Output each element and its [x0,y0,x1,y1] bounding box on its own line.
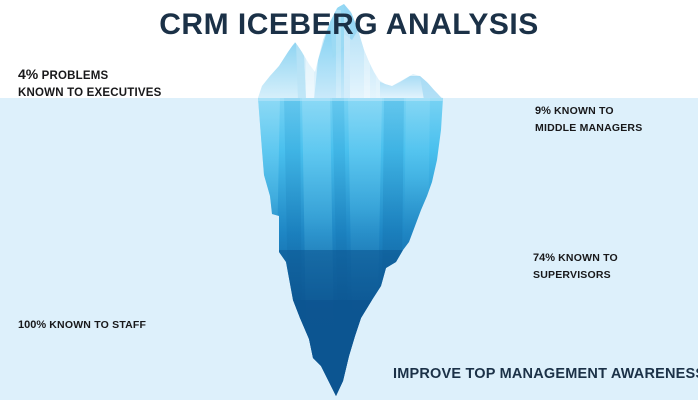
callout-supervisors-percent: 74% [533,252,555,264]
callout-staff: 100% KNOWN TO STAFF [18,313,146,335]
callout-executives-percent: 4% [18,66,38,82]
callout-supervisors: 74% KNOWN TO SUPERVISORS [533,246,618,282]
callout-supervisors-text1: KNOWN TO [555,252,618,264]
iceberg-infographic: CRM ICEBERG ANALYSIS 4% PROBLEMS KNOWN T… [0,0,698,400]
iceberg-submerged-body [250,96,450,400]
callout-staff-line1: 100% KNOWN TO STAFF [18,313,146,335]
page-title: CRM ICEBERG ANALYSIS [0,8,698,42]
callout-middle-managers-line2: MIDDLE MANAGERS [535,121,642,135]
callout-staff-text1: KNOWN TO STAFF [46,319,146,331]
callout-executives-line2: KNOWN TO EXECUTIVES [18,86,162,102]
callout-staff-percent: 100% [18,319,46,331]
callout-executives: 4% PROBLEMS KNOWN TO EXECUTIVES [18,64,162,101]
callout-middle-managers-line1: 9% KNOWN TO [535,99,642,121]
callout-supervisors-line1: 74% KNOWN TO [533,246,618,268]
callout-middle-managers-percent: 9% [535,105,551,117]
footer-caption: IMPROVE TOP MANAGEMENT AWARENESS [393,366,698,382]
callout-executives-text1: PROBLEMS [38,70,108,82]
callout-middle-managers: 9% KNOWN TO MIDDLE MANAGERS [535,99,642,135]
callout-supervisors-line2: SUPERVISORS [533,268,618,282]
callout-middle-managers-text1: KNOWN TO [551,105,614,117]
callout-executives-line1: 4% PROBLEMS [18,64,162,86]
iceberg-illustration [0,0,698,400]
